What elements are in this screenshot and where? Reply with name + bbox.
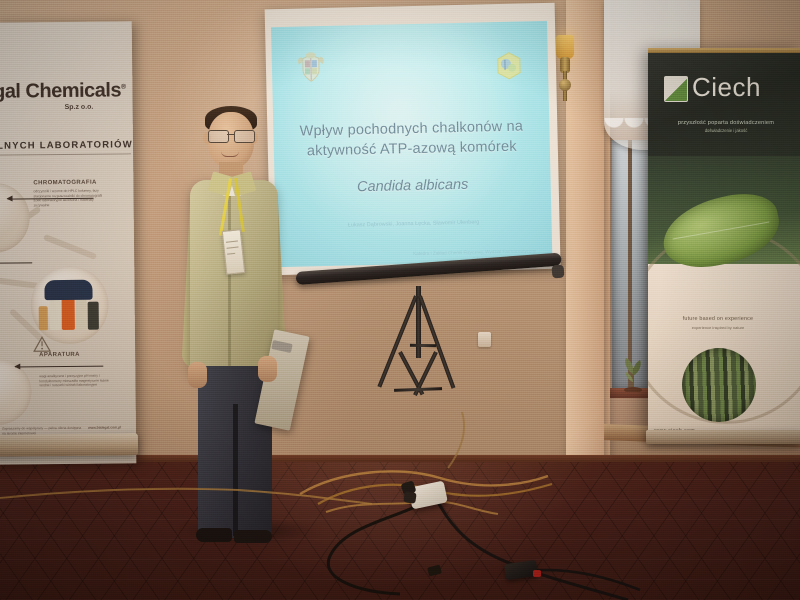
conference-photo: Wpływ pochodnych chalkonów na aktywność … xyxy=(0,0,800,600)
banner-left-section-heading-1: CHROMATOGRAFIA xyxy=(33,180,96,187)
banner-right-brand: Ciech xyxy=(692,72,761,103)
banner-right-tagline-pl-sub: doświadczenie i jakość xyxy=(664,128,788,133)
tripod-crossbar-upper xyxy=(410,344,436,347)
badge-text-line xyxy=(226,240,238,242)
presenter-hand-right xyxy=(258,356,277,382)
slide-title-line1: Wpływ pochodnych chalkonów na xyxy=(300,118,524,139)
banner-right-ciech: Ciech przyszłość poparta doświadczeniem … xyxy=(648,48,800,440)
banner-left-brand-text: egal Chemicals xyxy=(0,79,121,102)
badge-text-line xyxy=(227,253,235,255)
warning-triangle-icon xyxy=(33,336,51,357)
product-photo-circle-1 xyxy=(0,182,30,253)
bottle xyxy=(88,302,99,330)
presenter-shoe-right xyxy=(234,530,272,543)
badge-text-line xyxy=(227,246,239,248)
banner-right-tagline-pl: przyszłość poparta doświadczeniem xyxy=(664,120,788,126)
windowsill-plant xyxy=(620,352,646,392)
arrow-to-section-2 xyxy=(0,262,32,264)
banner-left-section-body-2: wagi analityczne i precyzyjne pH-metry i… xyxy=(39,373,113,388)
banner-left-section-body-1: odczynniki i wzorce do HPLC kolumny, faz… xyxy=(33,189,107,208)
power-plug-black-2 xyxy=(403,491,416,504)
banner-left-tagline: NALNYCH LABORATORIÓW xyxy=(0,139,131,152)
sconce-ornament xyxy=(559,79,571,91)
university-coat-of-arms-icon xyxy=(294,52,329,85)
adapter-red-indicator xyxy=(533,570,541,577)
banner-right-tagline-en-sub: experience inspired by nature xyxy=(658,325,778,330)
banner-left-base xyxy=(0,433,138,457)
slide-title-line2: aktywność ATP-azową komórek xyxy=(307,139,517,160)
glasses-lens-right xyxy=(234,130,255,143)
glasses-icon xyxy=(206,130,256,142)
presenter-standing xyxy=(176,104,308,542)
banner-left-registered-icon: ® xyxy=(121,84,126,91)
projected-slide: Wpływ pochodnych chalkonów na aktywność … xyxy=(271,21,552,267)
banner-right-dark-panel xyxy=(648,53,800,163)
wall-power-outlet xyxy=(478,332,491,347)
arrow-to-section-3 xyxy=(15,366,103,368)
slide-title: Wpływ pochodnych chalkonów na aktywność … xyxy=(287,116,536,162)
bottle xyxy=(50,300,61,330)
banner-left-divider xyxy=(0,153,131,156)
banner-left-footer-url: www.bialegal.com.pl xyxy=(88,425,134,430)
sconce-shade xyxy=(556,35,574,59)
bottle xyxy=(39,306,48,330)
shirt-button-placket xyxy=(228,186,231,372)
banner-left-legal-form: Sp.z o.o. xyxy=(65,104,94,111)
product-photo-circle-2 xyxy=(30,266,109,345)
presenter-shoe-left xyxy=(196,528,232,542)
glasses-bridge xyxy=(227,134,234,135)
banner-right-tagline-en: future based on experience xyxy=(658,316,778,322)
presenter-shirt xyxy=(190,180,278,376)
dark-product xyxy=(44,280,92,301)
banner-right-base xyxy=(646,430,800,444)
glasses-lens-left xyxy=(208,130,229,143)
presenter-hand-left xyxy=(188,362,207,388)
banner-right-photo-circle xyxy=(682,348,756,422)
ciech-shield-logo-icon xyxy=(664,76,688,102)
parquet-floor xyxy=(0,462,800,600)
hex-bond-4 xyxy=(43,234,97,260)
banner-left-brand: egal Chemicals® xyxy=(0,79,133,104)
screen-case-cap xyxy=(552,265,565,279)
bottle xyxy=(76,298,87,330)
conference-hex-logo-icon xyxy=(496,52,523,81)
banner-left-chemicals: egal Chemicals® Sp.z o.o. NALNYCH LABORA… xyxy=(0,21,136,464)
trouser-leg-gap xyxy=(233,404,238,536)
